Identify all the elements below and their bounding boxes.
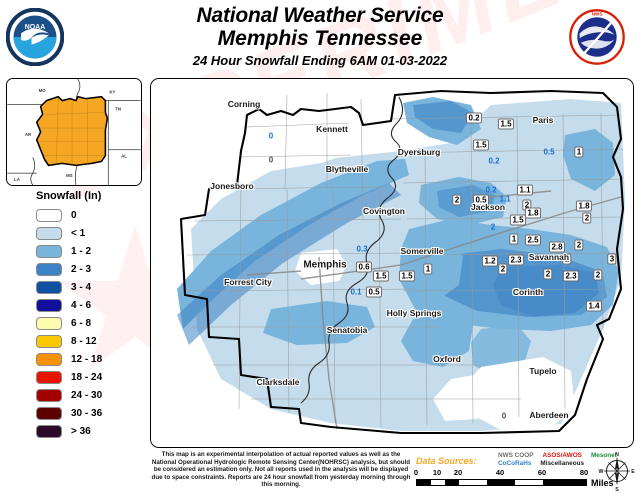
noaa-logo-icon: NOAA [6, 8, 64, 66]
snowfall-observation: 1.5 [473, 140, 489, 151]
svg-text:W: W [599, 469, 604, 475]
snowfall-observation: 2 [491, 223, 495, 232]
city-label-corning: Corning [228, 99, 261, 109]
snowfall-observation: 2 [582, 213, 591, 224]
page-header: NOAA National Weather Service Memphis Te… [0, 0, 640, 78]
legend-item: < 1 [6, 224, 142, 242]
snowfall-observation: 3 [607, 254, 616, 265]
snowfall-observation: 0.2 [488, 157, 499, 166]
legend-item: 8 - 12 [6, 332, 142, 350]
legend-item: 1 - 2 [6, 242, 142, 260]
legend-label: 12 - 18 [71, 354, 102, 365]
city-label-dyersburg: Dyersburg [398, 147, 441, 157]
title-block: National Weather Service Memphis Tenness… [150, 4, 490, 69]
snowfall-observation: 2.3 [563, 271, 579, 282]
legend-item: 24 - 30 [6, 386, 142, 404]
city-label-holly-springs: Holly Springs [387, 308, 442, 318]
city-label-kennett: Kennett [316, 124, 348, 134]
legend-label: 18 - 24 [71, 372, 102, 383]
snowfall-observation: 2 [498, 264, 507, 275]
legend-label: 30 - 36 [71, 408, 102, 419]
city-label-corinth: Corinth [513, 287, 543, 297]
snowfall-observation: 1.5 [498, 119, 514, 130]
svg-text:NOAA: NOAA [25, 24, 45, 31]
svg-text:NWS: NWS [592, 12, 603, 17]
svg-text:KY: KY [109, 90, 115, 95]
data-sources-label: Data Sources: [416, 456, 477, 466]
source-nws-coop: NWS COOP [498, 452, 534, 460]
city-label-clarksdale: Clarksdale [257, 377, 300, 387]
legend-label: 24 - 30 [71, 390, 102, 401]
legend-item: 6 - 8 [6, 314, 142, 332]
snowfall-observation: 1.5 [510, 215, 526, 226]
city-label-jonesboro: Jonesboro [210, 181, 253, 191]
legend-label: 4 - 6 [71, 300, 91, 311]
map-scale-bar: 01020406080 Miles [416, 468, 606, 478]
city-label-memphis: Memphis [303, 260, 346, 271]
legend-swatch [36, 389, 62, 402]
city-label-covington: Covington [363, 206, 405, 216]
legend-swatch [36, 209, 62, 222]
legend-label: < 1 [71, 228, 85, 239]
product-title: 24 Hour Snowfall Ending 6AM 01-03-2022 [150, 52, 490, 69]
legend-label: 8 - 12 [71, 336, 97, 347]
scale-tick: 10 [433, 468, 441, 477]
snowfall-legend: Snowfall (In) 0< 11 - 22 - 33 - 44 - 66 … [6, 190, 142, 442]
snowfall-observation: 0.5 [543, 148, 554, 157]
source-asos-awos: ASOS/AWOS [543, 452, 582, 460]
city-label-oxford: Oxford [433, 354, 461, 364]
snowfall-observation: 2 [543, 269, 552, 280]
city-label-senatobia: Senatobia [327, 325, 368, 335]
snowfall-observation: 0.6 [356, 262, 372, 273]
snowfall-observation: 1.8 [525, 208, 541, 219]
scale-tick: 80 [580, 468, 588, 477]
svg-text:N: N [615, 452, 619, 458]
snowfall-observation: 2 [574, 240, 583, 251]
legend-swatch [36, 245, 62, 258]
legend-swatch [36, 425, 62, 438]
legend-swatch [36, 335, 62, 348]
nws-logo-icon: NWS [568, 8, 626, 66]
legend-label: 3 - 4 [71, 282, 91, 293]
city-label-paris: Paris [533, 115, 554, 125]
legend-item: 4 - 6 [6, 296, 142, 314]
city-label-aberdeen: Aberdeen [529, 410, 568, 420]
city-label-jackson: Jackson [471, 202, 505, 212]
compass-rose-icon: N E S W [596, 450, 638, 492]
city-label-forrest-city: Forrest City [224, 277, 272, 287]
snowfall-observation: 0.1 [350, 288, 361, 297]
snowfall-observation: 0 [502, 412, 506, 421]
city-label-somerville: Somerville [401, 246, 444, 256]
snowfall-map[interactable]: CorningKennettJonesboroBlythevilleDyersb… [150, 78, 634, 448]
agency-name-line1: National Weather Service [150, 4, 490, 27]
legend-item: 12 - 18 [6, 350, 142, 368]
city-label-tupelo: Tupelo [529, 366, 556, 376]
snowfall-observation: 1.5 [373, 271, 389, 282]
svg-text:S: S [615, 487, 619, 492]
snowfall-observation: 2 [593, 270, 602, 281]
legend-swatch [36, 281, 62, 294]
snowfall-observation: 1 [509, 234, 518, 245]
snowfall-observation: 2.5 [525, 235, 541, 246]
legend-swatch [36, 371, 62, 384]
snowfall-observation: 1.2 [482, 256, 498, 267]
snowfall-observation: 0.3 [356, 245, 367, 254]
svg-text:TN: TN [115, 106, 121, 111]
legend-swatch [36, 263, 62, 276]
legend-swatch [36, 353, 62, 366]
map-graphic [151, 79, 633, 447]
city-label-savannah: Savannah [529, 252, 569, 262]
scale-tick-labels: 01020406080 [416, 468, 606, 478]
snowfall-observation: 0.2 [466, 113, 482, 124]
snowfall-observation: 1 [423, 264, 432, 275]
snowfall-observation: 0.5 [366, 287, 382, 298]
legend-item: 3 - 4 [6, 278, 142, 296]
scale-bar-graphic [416, 479, 587, 486]
scale-tick: 60 [538, 468, 546, 477]
legend-label: 1 - 2 [71, 246, 91, 257]
svg-text:MO: MO [39, 88, 47, 93]
snowfall-observation: 1.1 [517, 185, 533, 196]
legend-item: 18 - 24 [6, 368, 142, 386]
legend-swatch [36, 317, 62, 330]
snowfall-observation: 0 [269, 156, 273, 165]
legend-label: 6 - 8 [71, 318, 91, 329]
disclaimer-text: This map is an experimental interpolatio… [150, 451, 412, 489]
snowfall-observation: 1.5 [399, 271, 415, 282]
scale-tick: 40 [496, 468, 504, 477]
page-footer: This map is an experimental interpolatio… [150, 450, 634, 494]
legend-rows: 0< 11 - 22 - 33 - 44 - 66 - 88 - 1212 - … [6, 206, 142, 440]
legend-title: Snowfall (In) [36, 190, 142, 202]
scale-tick: 20 [454, 468, 462, 477]
legend-label: > 36 [71, 426, 91, 437]
snowfall-observation: 2.8 [549, 242, 565, 253]
office-name-line2: Memphis Tennessee [150, 27, 490, 50]
legend-swatch [36, 227, 62, 240]
snowfall-observation: 2.3 [508, 255, 524, 266]
snowfall-observation: 2 [452, 195, 461, 206]
snowfall-observation: 1.4 [586, 301, 602, 312]
legend-label: 0 [71, 210, 77, 221]
svg-text:AR: AR [25, 132, 32, 137]
legend-label: 2 - 3 [71, 264, 91, 275]
snowfall-observation: 0 [269, 132, 273, 141]
svg-text:LA: LA [14, 177, 20, 182]
svg-text:AL: AL [121, 154, 127, 159]
state-locator-map: MO KY TN AR AL MS LA [6, 78, 142, 186]
legend-item: 2 - 3 [6, 260, 142, 278]
snowfall-observation: 1 [574, 147, 583, 158]
scale-tick: 0 [414, 468, 418, 477]
snowfall-observation: 1.8 [576, 201, 592, 212]
svg-text:E: E [631, 469, 635, 475]
legend-swatch [36, 299, 62, 312]
snowfall-observation: 0.2 [485, 186, 496, 195]
legend-swatch [36, 407, 62, 420]
legend-item: > 36 [6, 422, 142, 440]
legend-item: 30 - 36 [6, 404, 142, 422]
svg-text:MS: MS [66, 173, 73, 178]
legend-item: 0 [6, 206, 142, 224]
city-label-blytheville: Blytheville [326, 164, 369, 174]
